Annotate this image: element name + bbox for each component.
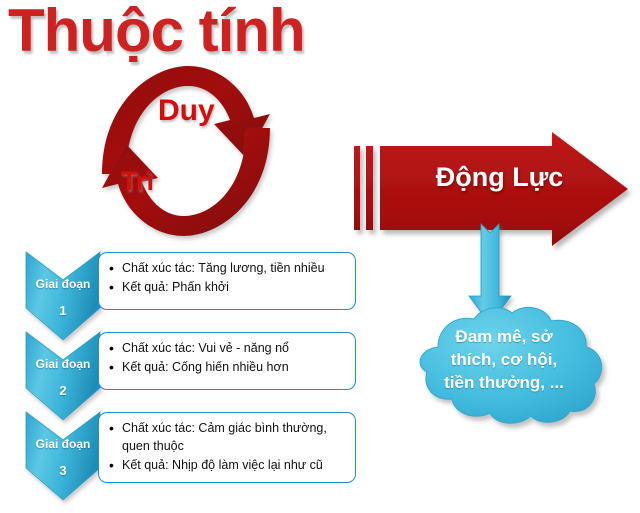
- cloud-text-line-3: tiền thưởng, ...: [444, 373, 564, 392]
- stage-bullet-list: Chất xúc tác: Cảm giác bình thường, quen…: [109, 420, 347, 474]
- page-title: Thuộc tính: [8, 0, 305, 65]
- stage-chevron[interactable]: Giai đoạn 2: [22, 330, 104, 422]
- cloud-text-line-1: Đam mê, sở: [455, 327, 552, 346]
- stage-detail-box: Chất xúc tác: Tăng lương, tiền nhiều Kết…: [98, 252, 356, 310]
- cycle-label-top: Duy: [158, 94, 215, 128]
- stage-chevron-shape: [26, 252, 100, 340]
- retention-cycle-diagram: Duy Trì: [96, 62, 276, 237]
- stage-detail-box: Chất xúc tác: Cảm giác bình thường, quen…: [98, 412, 356, 483]
- cloud-shape: Đam mê, sở thích, cơ hội, tiền thưởng, .…: [398, 305, 610, 427]
- stage-chevron[interactable]: Giai đoạn 3: [22, 410, 104, 502]
- cycle-label-bottom: Trì: [121, 166, 154, 197]
- stage-bullet-list: Chất xúc tác: Vui vẻ - năng nổ Kết quả: …: [109, 340, 347, 377]
- stage-bullet: Kết quả: Cống hiến nhiều hơn: [109, 359, 347, 377]
- cloud-text-line-2: thích, cơ hội,: [451, 350, 558, 369]
- stage-bullet: Kết quả: Nhịp độ làm việc lại như cũ: [109, 457, 347, 475]
- motion-line-2: [366, 146, 373, 230]
- stage-bullet: Chất xúc tác: Tăng lương, tiền nhiều: [109, 260, 347, 278]
- stage-chevron-svg: [22, 410, 104, 502]
- stage-detail-box: Chất xúc tác: Vui vẻ - năng nổ Kết quả: …: [98, 332, 356, 390]
- stage-chevron-svg: [22, 250, 104, 342]
- motion-line-1: [354, 146, 360, 230]
- stage-bullet: Chất xúc tác: Vui vẻ - năng nổ: [109, 340, 347, 358]
- cycle-arrows-svg: [96, 62, 276, 237]
- stage-chevron-svg: [22, 330, 104, 422]
- stage-bullet: Kết quả: Phấn khởi: [109, 279, 347, 297]
- slide-canvas: Thuộc tính Duy Trì: [0, 0, 640, 513]
- motivation-arrow-label: Động Lực: [412, 162, 587, 193]
- stage-chevron-shape: [26, 412, 100, 500]
- stage-bullet-list: Chất xúc tác: Tăng lương, tiền nhiều Kết…: [109, 260, 347, 297]
- stage-chevron[interactable]: Giai đoạn 1: [22, 250, 104, 342]
- cloud-text: Đam mê, sở thích, cơ hội, tiền thưởng, .…: [422, 326, 586, 394]
- stage-bullet: Chất xúc tác: Cảm giác bình thường, quen…: [109, 420, 347, 456]
- stage-chevron-shape: [26, 332, 100, 420]
